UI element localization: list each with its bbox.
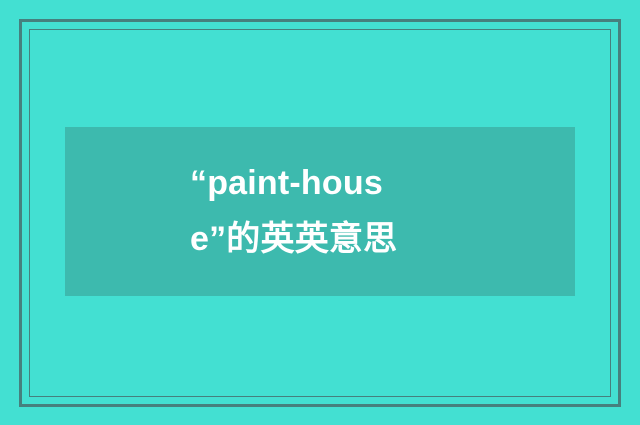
title-card: “paint-house”的英英意思	[0, 0, 640, 425]
page-title: “paint-house”的英英意思	[190, 156, 450, 266]
title-panel: “paint-house”的英英意思	[65, 127, 575, 296]
